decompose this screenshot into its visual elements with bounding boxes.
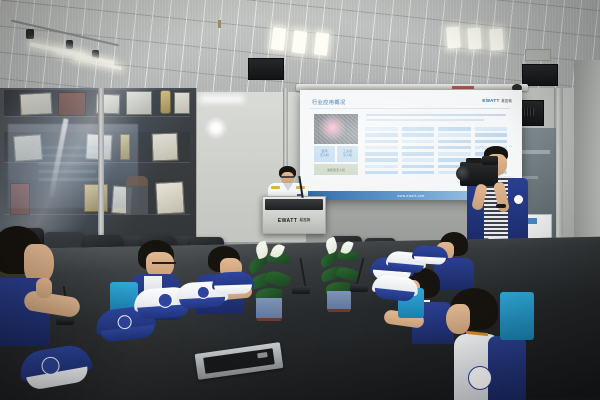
slide-tag [402, 165, 435, 169]
slide-tag [475, 133, 508, 137]
glass-reflection-slide [8, 124, 138, 208]
reflection-row [38, 170, 96, 173]
slide-title-rule [310, 108, 510, 109]
podium-logo-sub: 易瓦特 [299, 218, 310, 223]
slide-tag [475, 127, 508, 131]
ceiling-light-glow [200, 95, 244, 103]
mic-base [350, 284, 368, 292]
plant-pot [256, 298, 282, 320]
cabinet-person-reflection [126, 176, 148, 214]
reflection-row [38, 154, 100, 157]
ceiling-light-panel [446, 27, 460, 49]
podium: EWATT 易瓦特 [262, 196, 326, 234]
award-plaque [126, 91, 152, 115]
speaker-glasses [281, 176, 294, 178]
slide-category-box: 消费级无人机 [314, 164, 358, 175]
slide-thumbnail-image [314, 114, 358, 144]
slide-logo-text: EWATT [482, 98, 499, 103]
camera-handle [466, 158, 482, 163]
slide-logo: EWATT 易瓦特 [482, 98, 512, 103]
camera-lens [456, 166, 471, 181]
speaker-epaulette [271, 186, 280, 189]
ceiling-light-panel [271, 27, 287, 50]
cap-brim [414, 256, 446, 265]
wall-speaker [248, 58, 284, 80]
cameraman-watch [496, 204, 506, 208]
cap-brim [214, 284, 252, 294]
slide-category-box: 工业级 无人机 [337, 146, 358, 162]
ceiling-hook [218, 20, 221, 28]
child-face [446, 304, 470, 334]
wall-lamp-glow [208, 120, 224, 136]
slide-logo-sub: 易瓦特 [501, 99, 512, 103]
plant-pot [327, 291, 351, 311]
mic-gooseneck [356, 258, 365, 286]
mic-base [292, 286, 310, 294]
slide-tag [438, 133, 471, 137]
plant-pot-base [328, 309, 350, 312]
slide-tag [365, 146, 398, 150]
slide-title: 行业应用概况 [312, 99, 346, 106]
slide-tag [402, 158, 435, 162]
award-plaque [19, 92, 52, 116]
ceiling-light-panel [314, 32, 330, 55]
cap[interactable] [412, 245, 449, 267]
camera-viewfinder [482, 156, 498, 165]
slide-tag [402, 152, 435, 156]
slide-tag [365, 152, 398, 156]
screen-roller-brand [452, 86, 474, 89]
slide-tag [402, 140, 435, 144]
podium-surface [265, 199, 323, 210]
conference-microphone[interactable] [350, 258, 368, 300]
award-plaque [174, 92, 190, 114]
slide-category-box: 警用 无人机 [314, 146, 335, 162]
track-light [66, 40, 73, 49]
slide-intro-text [366, 119, 484, 121]
reflection-row [38, 162, 106, 165]
slide-tag [365, 127, 398, 131]
slide-tag [365, 158, 398, 162]
slide-tag [402, 146, 435, 150]
ceiling-light-panel [489, 29, 503, 51]
shirt-logo [468, 366, 492, 390]
podium-logo-text: EWATT [278, 218, 298, 224]
slide-tag [402, 171, 435, 175]
slide-intro-text [366, 114, 506, 116]
wall-speaker [522, 64, 558, 86]
cap[interactable] [212, 271, 255, 296]
backpack [500, 292, 534, 340]
child-glasses [152, 262, 176, 264]
certificate-frame [155, 181, 185, 214]
podium-logo: EWATT 易瓦特 [268, 215, 320, 226]
ceiling-light-panel [467, 28, 481, 50]
plant-flower [324, 237, 339, 255]
reflection-row [38, 178, 104, 181]
slide-tag [365, 133, 398, 137]
slide-tag [438, 140, 471, 144]
slide-tag [365, 140, 398, 144]
slide-tag [365, 165, 398, 169]
cameraman-vest-badge [513, 194, 524, 205]
plant-pot-base [257, 318, 281, 321]
slide-tag [475, 140, 508, 144]
certificate-frame [152, 133, 179, 162]
track-light [26, 29, 34, 39]
slide-tag [402, 133, 435, 137]
slide-tag [402, 127, 435, 131]
ceiling-vent [525, 49, 551, 61]
mic-gooseneck [299, 258, 306, 288]
award-plaque [58, 92, 86, 116]
trophy [160, 90, 171, 114]
right-wall-edge [574, 60, 600, 260]
slide-tag [365, 171, 398, 175]
slide-tag [438, 127, 471, 131]
conference-microphone[interactable] [292, 258, 310, 302]
ceiling-light-panel [292, 30, 308, 53]
audience-child [0, 226, 84, 346]
conference-room-photo: 行业应用概况 EWATT 易瓦特 警用 无人机 工业级 无人机 消费级无人机 w… [0, 0, 600, 400]
cap[interactable] [371, 274, 419, 305]
child-hand [36, 278, 52, 298]
child-vest [488, 336, 526, 400]
